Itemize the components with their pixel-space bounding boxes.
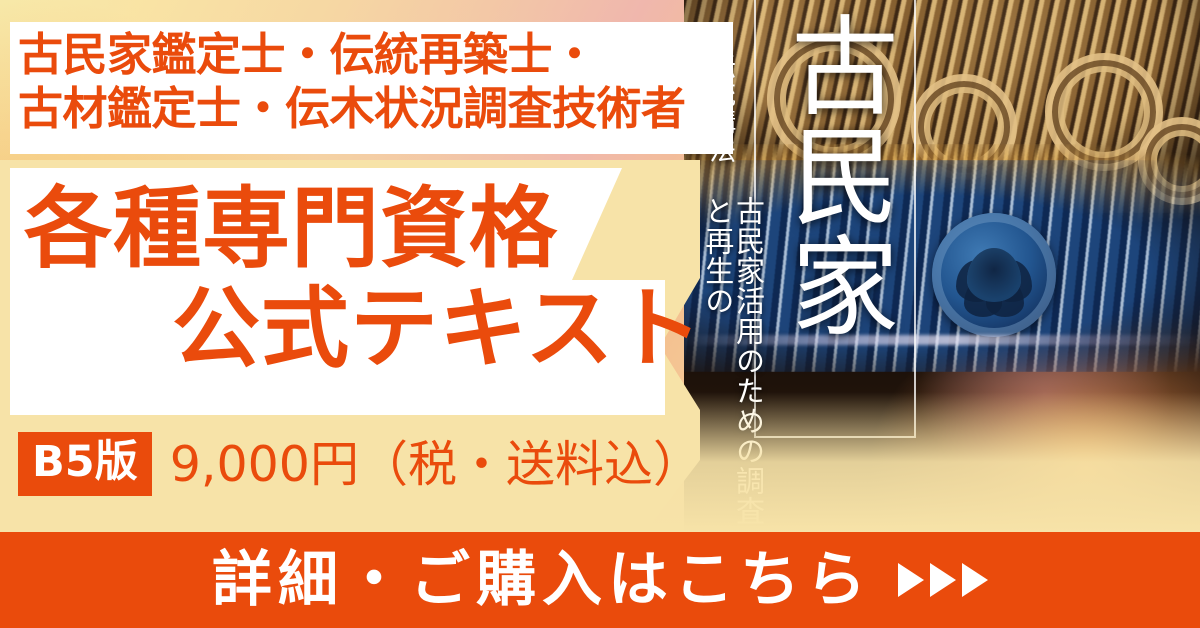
title-line-1: 各種専門資格 <box>24 185 558 273</box>
cta-label: 詳細・ご購入はこちら <box>212 550 872 610</box>
cta-arrows <box>898 563 988 597</box>
triangle-right-icon <box>930 563 956 597</box>
headline-line-1: 古民家鑑定士・伝統再築士・ <box>18 28 730 82</box>
title-line-2: 公式テキスト <box>172 285 703 373</box>
price-row: B5版 9,000円（税・送料込） <box>18 432 702 496</box>
triangle-right-icon <box>898 563 924 597</box>
triangle-right-icon <box>962 563 988 597</box>
cta-bar[interactable]: 詳細・ご購入はこちら <box>0 532 1200 628</box>
price-amount: 9,000円（税・送料込） <box>170 440 702 489</box>
headline-text: 古民家鑑定士・伝統再築士・ 古材鑑定士・伝木状況調査技術者 <box>18 28 730 135</box>
promo-banner: 古民家 伝統構法 古民家活用のための調査と再生の 古民家鑑定士・伝統再築士・ 古… <box>0 0 1200 628</box>
format-badge: B5版 <box>18 432 152 496</box>
headline-line-2: 古材鑑定士・伝木状況調査技術者 <box>18 82 730 136</box>
family-crest-medallion-icon <box>932 213 1056 337</box>
cover-title: 古民家 <box>766 10 898 340</box>
